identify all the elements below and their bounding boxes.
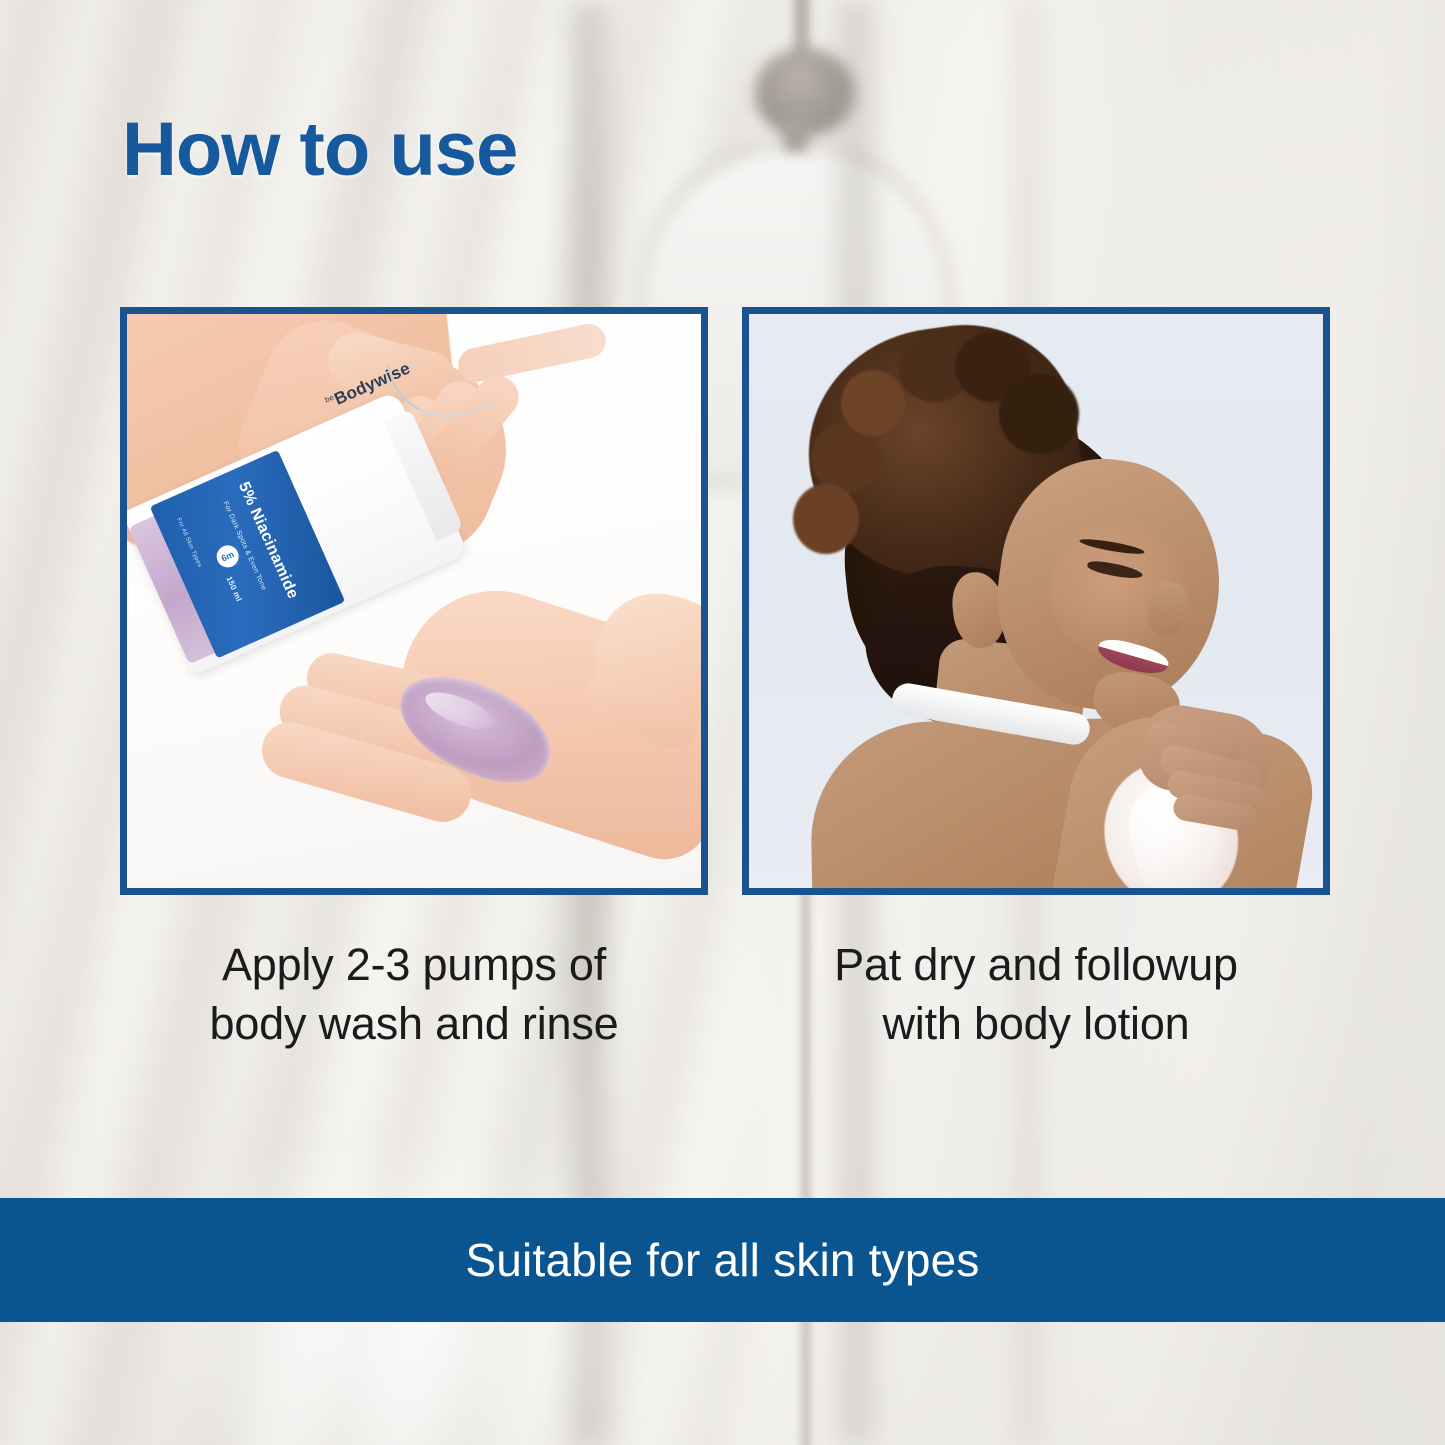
infographic-content: How to use 6m 5% Niacinamide <box>0 0 1445 1445</box>
hair-curl-6 <box>999 374 1079 454</box>
step-caption-moisturise-line1: Pat dry and followup <box>736 935 1336 994</box>
product-volume: 150 ml <box>224 575 243 603</box>
step-card-moisturise <box>742 307 1330 895</box>
suitability-banner-text: Suitable for all skin types <box>465 1233 979 1287</box>
step-caption-apply: Apply 2-3 pumps of body wash and rinse <box>114 935 714 1054</box>
step-image-frame-right <box>742 307 1330 895</box>
suitability-banner: Suitable for all skin types <box>0 1198 1445 1322</box>
hair-curl-2 <box>841 370 905 436</box>
step-caption-apply-line2: body wash and rinse <box>114 994 714 1053</box>
step-image-frame-left: 6m 5% Niacinamide For Dark Spots & Even … <box>120 307 708 895</box>
hair-curl-5 <box>793 484 859 554</box>
step-caption-apply-line1: Apply 2-3 pumps of <box>114 935 714 994</box>
step-caption-moisturise-line2: with body lotion <box>736 994 1336 1053</box>
step-card-apply: 6m 5% Niacinamide For Dark Spots & Even … <box>120 307 708 895</box>
page-title: How to use <box>122 106 517 193</box>
product-side-text: For All Skin Types <box>175 517 202 568</box>
photo-apply-lotion <box>749 314 1323 888</box>
period-after-opening-icon: 6m <box>213 542 242 571</box>
step-caption-moisturise: Pat dry and followup with body lotion <box>736 935 1336 1054</box>
photo-apply-body-wash: 6m 5% Niacinamide For Dark Spots & Even … <box>127 314 701 888</box>
